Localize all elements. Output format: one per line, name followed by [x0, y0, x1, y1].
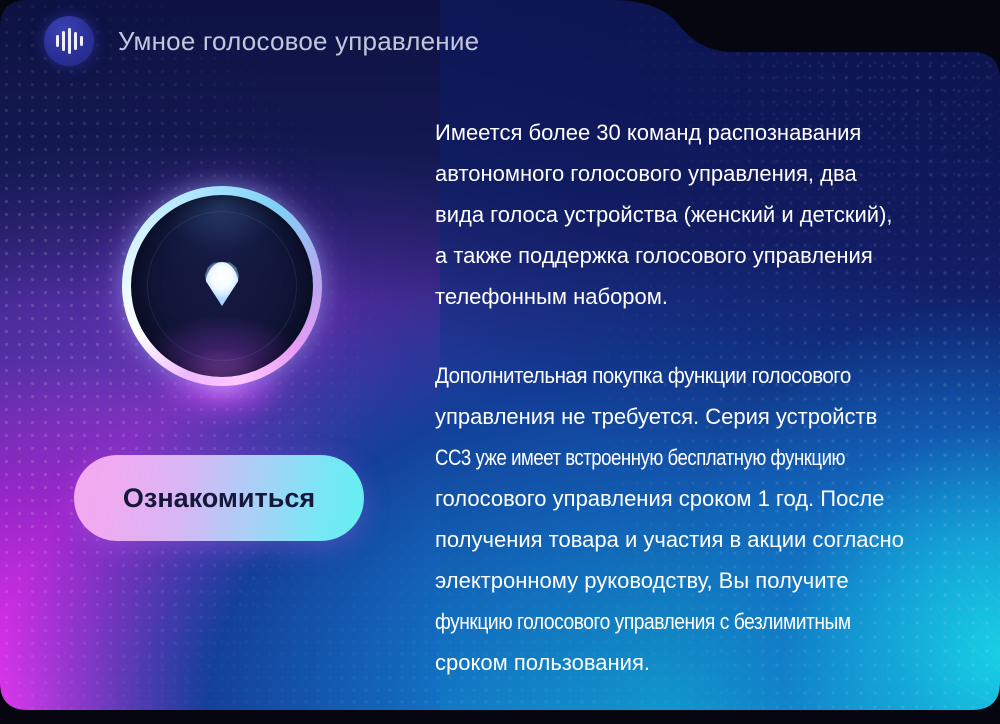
copy-line: автономного голосового управления, два — [435, 153, 965, 194]
body-copy: Имеется более 30 команд распознавания ав… — [435, 112, 965, 683]
copy-line: Дополнительная покупка функции голосовог… — [435, 355, 931, 396]
copy-line: голосового управления сроком 1 год. Посл… — [435, 478, 965, 519]
copy-line: получения товара и участия в акции согла… — [435, 519, 965, 560]
copy-line: управления не требуется. Серия устройств — [435, 396, 965, 437]
copy-line: функцию голосового управления с безлимит… — [435, 601, 899, 642]
copy-line: телефонным набором. — [435, 276, 965, 317]
paragraph-1: Имеется более 30 команд распознавания ав… — [435, 112, 965, 317]
copy-line: сроком пользования. — [435, 642, 965, 683]
copy-line: Имеется более 30 команд распознавания — [435, 112, 965, 153]
voice-wave-icon — [44, 16, 94, 66]
page-title: Умное голосовое управление — [118, 26, 479, 57]
learn-more-button[interactable]: Ознакомиться — [74, 455, 364, 541]
copy-line: вида голоса устройства (женский и детски… — [435, 194, 965, 235]
copy-line: электронному руководству, Вы получите — [435, 560, 965, 601]
copy-line: CC3 уже имеет встроенную бесплатную функ… — [435, 437, 883, 478]
header: Умное голосовое управление — [44, 16, 479, 66]
copy-line: а также поддержка голосового управления — [435, 235, 965, 276]
promo-card-stage: Умное голосовое управление Ознакомиться … — [0, 0, 1000, 724]
paragraph-2: Дополнительная покупка функции голосовог… — [435, 355, 965, 683]
voice-orb — [122, 186, 322, 386]
